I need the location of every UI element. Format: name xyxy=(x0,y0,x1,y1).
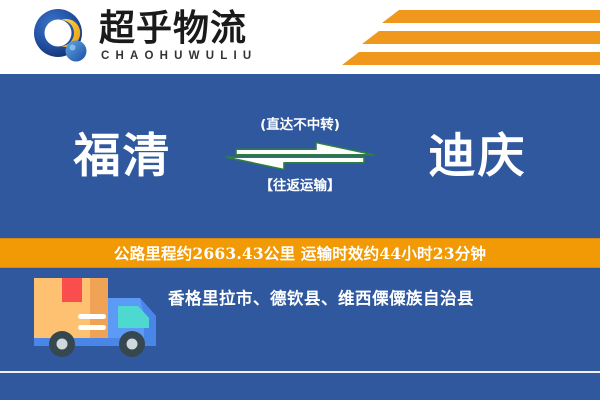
route-panel: 福清 (直达不中转) 【往返运输】 迪庆 xyxy=(0,74,600,238)
delivery-truck-icon xyxy=(28,276,170,368)
destination-city: 迪庆 xyxy=(385,133,570,180)
stripe-1 xyxy=(382,10,600,23)
brand-logo: 超乎物流 CHAOHUWULIU xyxy=(31,7,257,65)
coverage-panel: 香格里拉市、德钦县、维西傈僳族自治县 xyxy=(0,268,600,400)
stripe-3 xyxy=(342,52,600,65)
circular-crescent-logo-icon xyxy=(31,7,93,65)
brand-logo-text: 超乎物流 CHAOHUWULIU xyxy=(99,10,257,62)
coverage-text: 香格里拉市、德钦县、维西傈僳族自治县 xyxy=(168,285,474,309)
brand-name-en: CHAOHUWULIU xyxy=(101,50,257,62)
logistics-route-banner: 超乎物流 CHAOHUWULIU 福清 (直达不中转) xyxy=(0,0,600,400)
stripe-2 xyxy=(362,31,600,44)
route-info-text: 公路里程约2663.43公里 运输时效约44小时23分钟 xyxy=(114,242,486,264)
roundtrip-label: 【往返运输】 xyxy=(260,180,341,194)
header: 超乎物流 CHAOHUWULIU xyxy=(0,0,600,74)
bidirectional-arrow-icon xyxy=(224,141,376,171)
brand-name-cn: 超乎物流 xyxy=(99,10,257,48)
route-info-bar: 公路里程约2663.43公里 运输时效约44小时23分钟 xyxy=(0,238,600,268)
bottom-divider xyxy=(0,371,600,373)
origin-city: 福清 xyxy=(30,133,215,180)
route-direction-group: (直达不中转) 【往返运输】 xyxy=(215,119,385,193)
direct-shipping-label: (直达不中转) xyxy=(260,119,340,133)
orange-parallelogram-stripes-icon xyxy=(340,10,600,68)
